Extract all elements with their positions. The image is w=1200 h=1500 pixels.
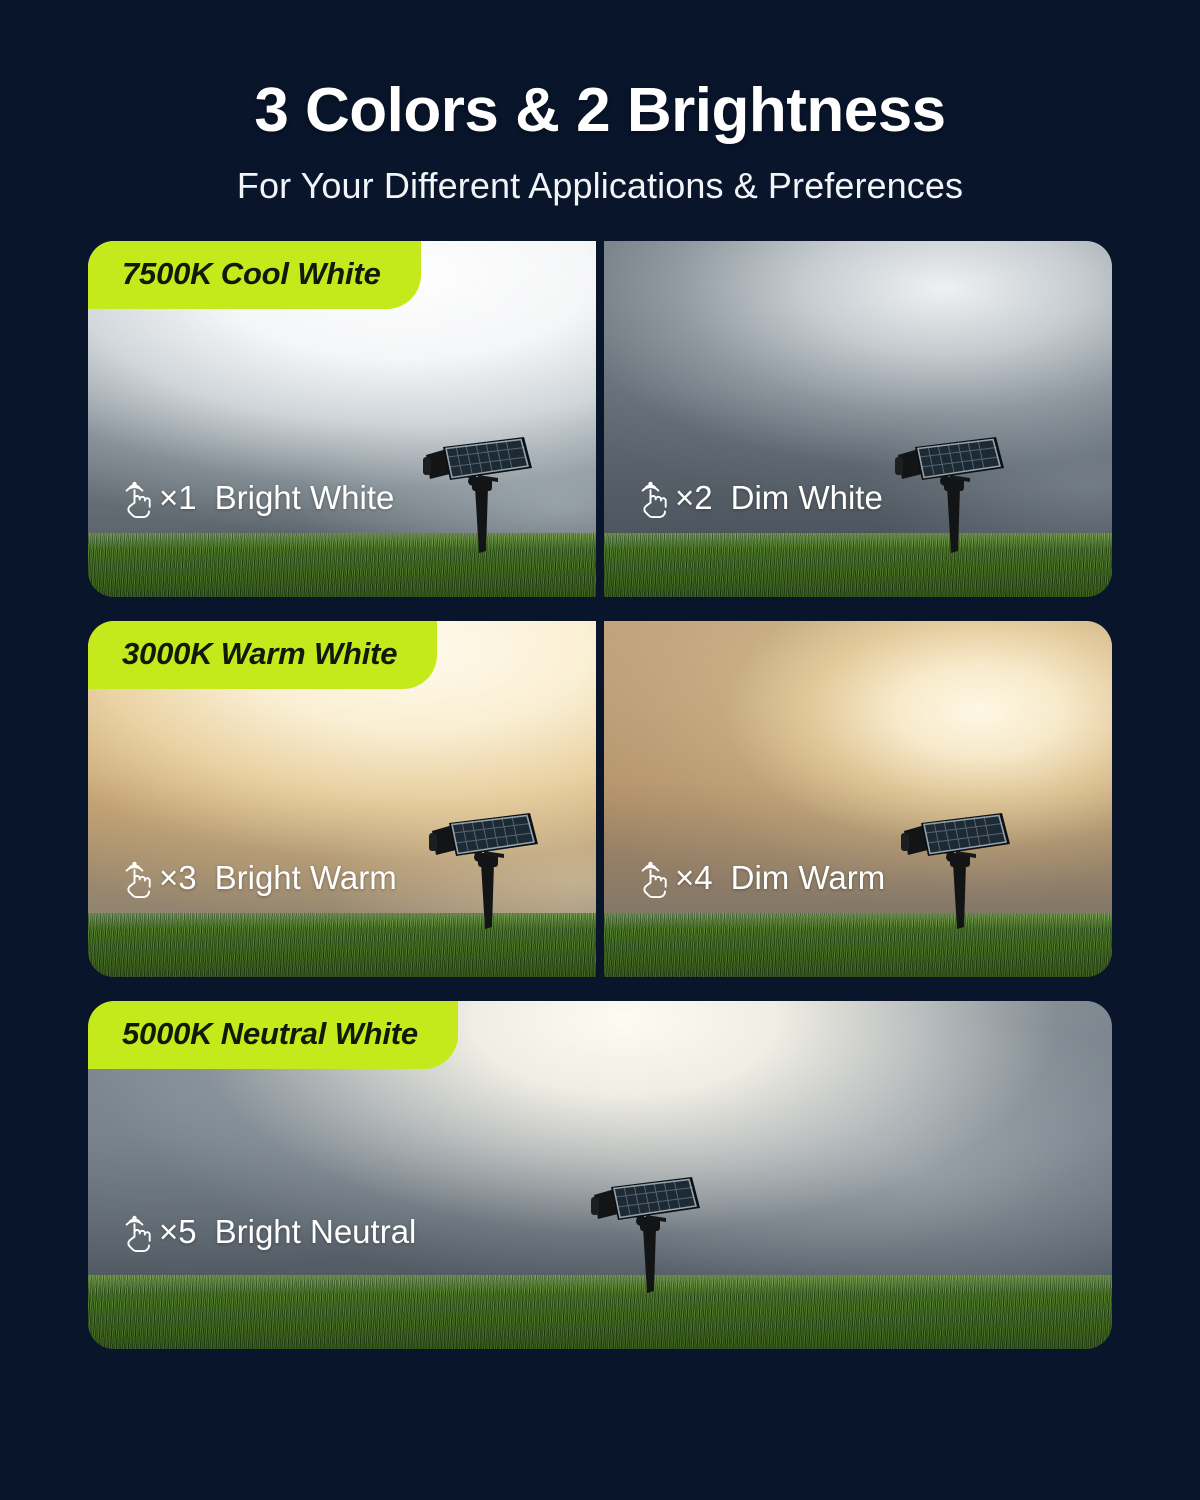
solar-spotlight-icon <box>426 797 546 929</box>
caption-label: Bright Warm <box>215 859 397 897</box>
badge-label: 7500K Cool White <box>122 256 381 291</box>
caption-bright-warm: ×3 Bright Warm <box>114 857 397 899</box>
badge-warm-white: 3000K Warm White <box>88 621 437 689</box>
solar-spotlight-icon <box>588 1161 708 1293</box>
grass-strip <box>604 533 1112 597</box>
tap-gesture-icon <box>114 1211 154 1253</box>
panel-bright-warm[interactable]: 3000K Warm White <box>88 621 596 977</box>
caption-label: Bright Neutral <box>215 1213 417 1251</box>
badge-label: 3000K Warm White <box>122 636 397 671</box>
caption-label: Bright White <box>215 479 395 517</box>
badge-cool-white: 7500K Cool White <box>88 241 421 309</box>
header: 3 Colors & 2 Brightness For Your Differe… <box>0 0 1200 207</box>
panel-bright-neutral[interactable]: 5000K Neutral White <box>88 1001 1112 1349</box>
caption-bright-neutral: ×5 Bright Neutral <box>114 1211 416 1253</box>
caption-dim-warm: ×4 Dim Warm <box>630 857 885 899</box>
solar-spotlight <box>898 797 1018 929</box>
caption-count: ×1 <box>159 479 197 517</box>
page-title: 3 Colors & 2 Brightness <box>0 78 1200 143</box>
solar-spotlight-icon <box>898 797 1018 929</box>
tap-gesture-icon <box>114 477 154 519</box>
caption-count: ×3 <box>159 859 197 897</box>
panel-dim-warm[interactable]: ×4 Dim Warm <box>604 621 1112 977</box>
tap-gesture-icon <box>630 477 670 519</box>
row-warm-white: 3000K Warm White <box>88 621 1112 977</box>
row-cool-white: 7500K Cool White <box>88 241 1112 597</box>
caption-count: ×5 <box>159 1213 197 1251</box>
mode-rows: 7500K Cool White <box>0 241 1200 1349</box>
solar-spotlight <box>588 1161 708 1293</box>
row-neutral-white: 5000K Neutral White <box>88 1001 1112 1349</box>
tap-gesture-icon <box>630 857 670 899</box>
solar-spotlight <box>420 421 540 553</box>
caption-dim-white: ×2 Dim White <box>630 477 883 519</box>
tap-gesture-icon <box>114 857 154 899</box>
caption-count: ×2 <box>675 479 713 517</box>
caption-label: Dim Warm <box>731 859 886 897</box>
caption-label: Dim White <box>731 479 883 517</box>
caption-count: ×4 <box>675 859 713 897</box>
badge-label: 5000K Neutral White <box>122 1016 418 1051</box>
badge-neutral-white: 5000K Neutral White <box>88 1001 458 1069</box>
solar-spotlight-icon <box>420 421 540 553</box>
solar-spotlight-icon <box>892 421 1012 553</box>
panel-bright-white[interactable]: 7500K Cool White <box>88 241 596 597</box>
grass-strip <box>604 913 1112 977</box>
page-subtitle: For Your Different Applications & Prefer… <box>0 165 1200 207</box>
solar-spotlight <box>426 797 546 929</box>
caption-bright-white: ×1 Bright White <box>114 477 394 519</box>
panel-dim-white[interactable]: ×2 Dim White <box>604 241 1112 597</box>
solar-spotlight <box>892 421 1012 553</box>
